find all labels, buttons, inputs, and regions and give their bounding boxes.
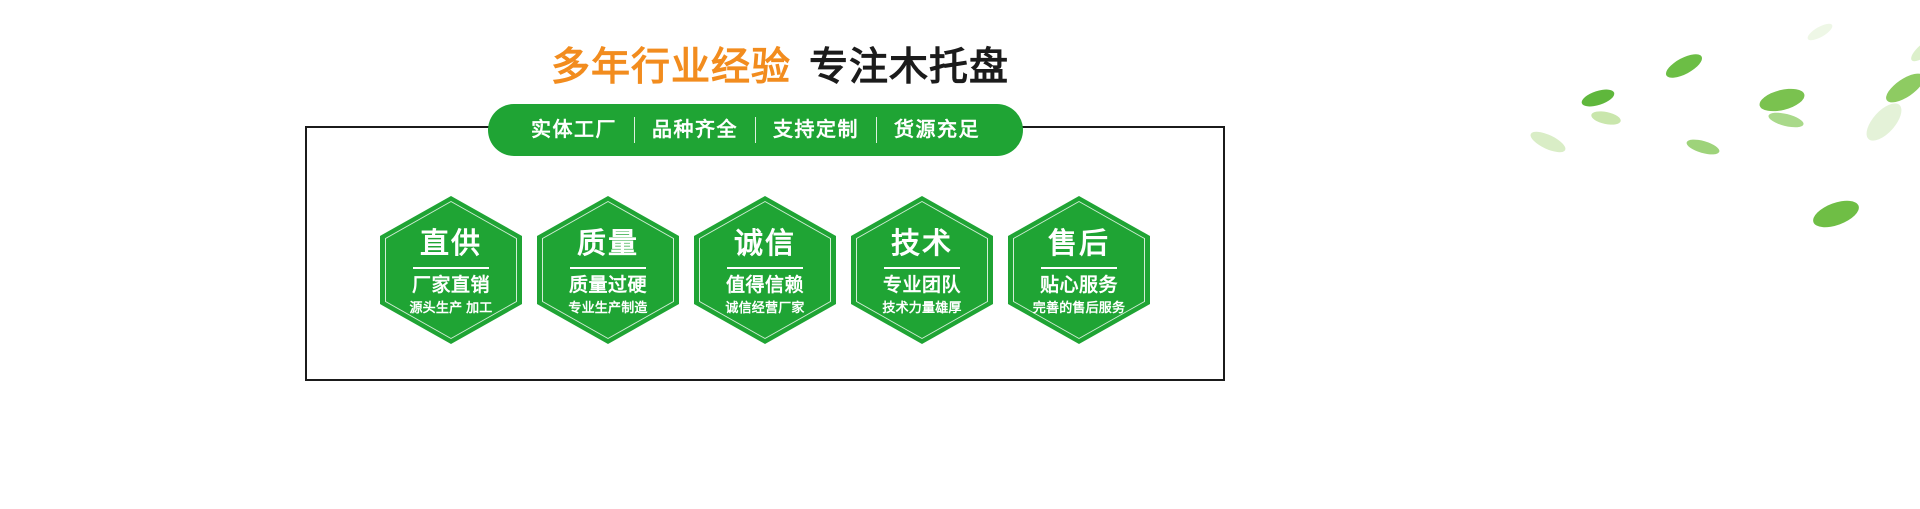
headline-rest: 专注木托盘: [809, 46, 1009, 89]
leaf-icon: [1805, 21, 1834, 44]
hexagon-caption: 技术力量雄厚: [882, 300, 961, 317]
hexagon-subtitle: 厂家直销: [412, 275, 490, 297]
hexagon-title: 技术: [891, 229, 953, 259]
hexagon-caption: 诚信经营厂家: [725, 300, 804, 317]
leaf-icon: [1810, 195, 1863, 230]
hexagon-subtitle: 质量过硬: [569, 275, 647, 297]
feature-pill-bar: 实体工厂 品种齐全 支持定制 货源充足: [488, 104, 1023, 156]
pill-item-2[interactable]: 支持定制: [756, 120, 876, 140]
hexagon-card-3[interactable]: 技术 专业团队 技术力量雄厚: [851, 196, 993, 344]
leaf-icon: [1663, 50, 1706, 83]
hexagon-card-0[interactable]: 直供 厂家直销 源头生产 加工: [380, 196, 522, 344]
hexagon-caption: 源头生产 加工: [409, 300, 492, 317]
promo-banner: 多年行业经验专注木托盘 实体工厂 品种齐全 支持定制 货源充足 直供 厂家直销 …: [0, 0, 1920, 509]
leaf-icon: [1767, 110, 1805, 130]
hexagon-card-1[interactable]: 质量 质量过硬 专业生产制造: [537, 196, 679, 344]
leaf-icon: [1882, 68, 1920, 108]
hexagon-divider: [413, 267, 489, 269]
hexagon-subtitle: 值得信赖: [726, 275, 804, 297]
hexagon-card-2[interactable]: 诚信 值得信赖 诚信经营厂家: [694, 196, 836, 344]
hexagon-divider: [884, 267, 960, 269]
leaf-icon: [1528, 128, 1568, 157]
leaf-icon: [1580, 86, 1617, 110]
hexagon-subtitle: 贴心服务: [1040, 275, 1118, 297]
hexagon-feature-row: 直供 厂家直销 源头生产 加工 质量 质量过硬 专业生产制造 诚信: [305, 196, 1225, 346]
leaf-icon: [1860, 98, 1907, 147]
falling-leaves-decoration: [1520, 0, 1920, 230]
hexagon-divider: [1041, 267, 1117, 269]
leaf-icon: [1685, 137, 1721, 158]
leaf-icon: [1757, 85, 1806, 116]
leaf-icon: [1908, 35, 1920, 65]
hexagon-divider: [727, 267, 803, 269]
hexagon-caption: 专业生产制造: [568, 300, 647, 317]
leaf-icon: [1590, 109, 1622, 127]
hexagon-caption: 完善的售后服务: [1033, 300, 1125, 317]
hexagon-divider: [570, 267, 646, 269]
hexagon-title: 直供: [420, 229, 482, 259]
hexagon-title: 诚信: [734, 229, 796, 259]
pill-item-0[interactable]: 实体工厂: [514, 120, 634, 140]
hexagon-subtitle: 专业团队: [883, 275, 961, 297]
hexagon-title: 质量: [577, 229, 639, 259]
headline-highlight: 多年行业经验: [551, 46, 791, 89]
hexagon-card-4[interactable]: 售后 贴心服务 完善的售后服务: [1008, 196, 1150, 344]
pill-item-1[interactable]: 品种齐全: [635, 120, 755, 140]
pill-item-3[interactable]: 货源充足: [877, 120, 997, 140]
hexagon-title: 售后: [1048, 229, 1110, 259]
page-title: 多年行业经验专注木托盘: [0, 36, 1560, 92]
